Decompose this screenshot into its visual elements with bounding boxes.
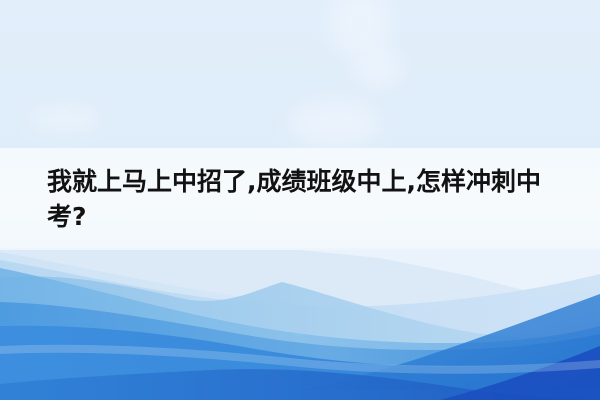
cloud-wisp — [290, 100, 380, 146]
title-cover-card: 我就上马上中招了,成绩班级中上,怎样冲刺中考? — [0, 0, 600, 400]
cloud-wisp — [355, 48, 401, 88]
wave-illustration — [0, 250, 600, 400]
page-title: 我就上马上中招了,成绩班级中上,怎样冲刺中考? — [47, 164, 577, 234]
wave-scenery — [0, 250, 600, 400]
sky-background — [0, 0, 600, 148]
cloud-wisp — [30, 108, 100, 130]
